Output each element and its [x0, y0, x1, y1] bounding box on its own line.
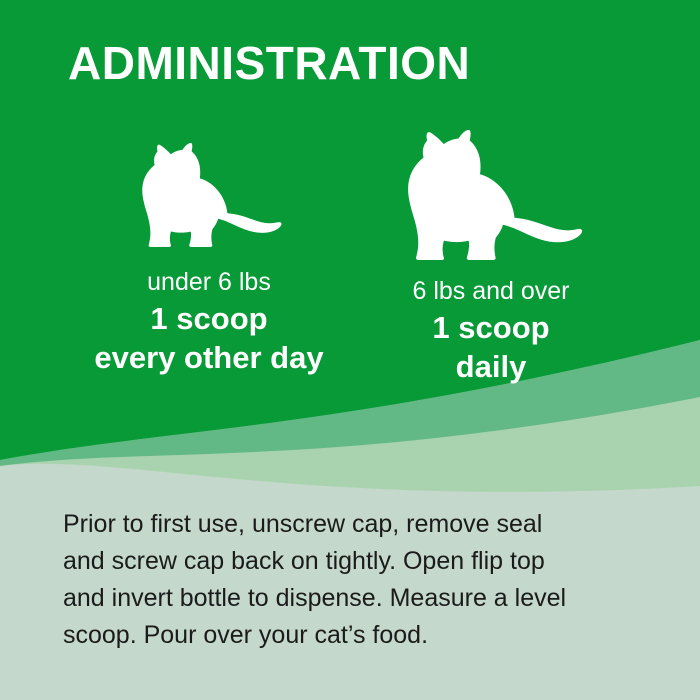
page-title: ADMINISTRATION	[68, 40, 470, 86]
administration-panel: ADMINISTRATION under 6 lbs 1 scoop every…	[0, 0, 700, 700]
dose-weight-label: under 6 lbs	[68, 268, 350, 297]
dose-amount-label: 1 scoop	[68, 299, 350, 339]
dosage-column-6-lbs-and-over: 6 lbs and over 1 scoop daily	[350, 130, 632, 387]
cat-silhouette-small-icon	[136, 143, 282, 247]
instructions-line: scoop. Pour over your cat’s food.	[63, 617, 663, 654]
dosage-column-under-6-lbs: under 6 lbs 1 scoop every other day	[68, 130, 350, 378]
instructions-line: and invert bottle to dispense. Measure a…	[63, 580, 663, 617]
instructions-line: Prior to first use, unscrew cap, remove …	[63, 506, 663, 543]
instructions-line: and screw cap back on tightly. Open flip…	[63, 543, 663, 580]
dose-frequency-label: daily	[350, 347, 632, 387]
dose-frequency-label: every other day	[68, 338, 350, 378]
dose-weight-label: 6 lbs and over	[350, 277, 632, 306]
cat-silhouette-large-icon	[399, 130, 584, 260]
cat-body-path	[142, 143, 281, 247]
dose-amount-label: 1 scoop	[350, 308, 632, 348]
instructions-paragraph: Prior to first use, unscrew cap, remove …	[63, 506, 663, 654]
cat-body-path	[408, 130, 582, 260]
